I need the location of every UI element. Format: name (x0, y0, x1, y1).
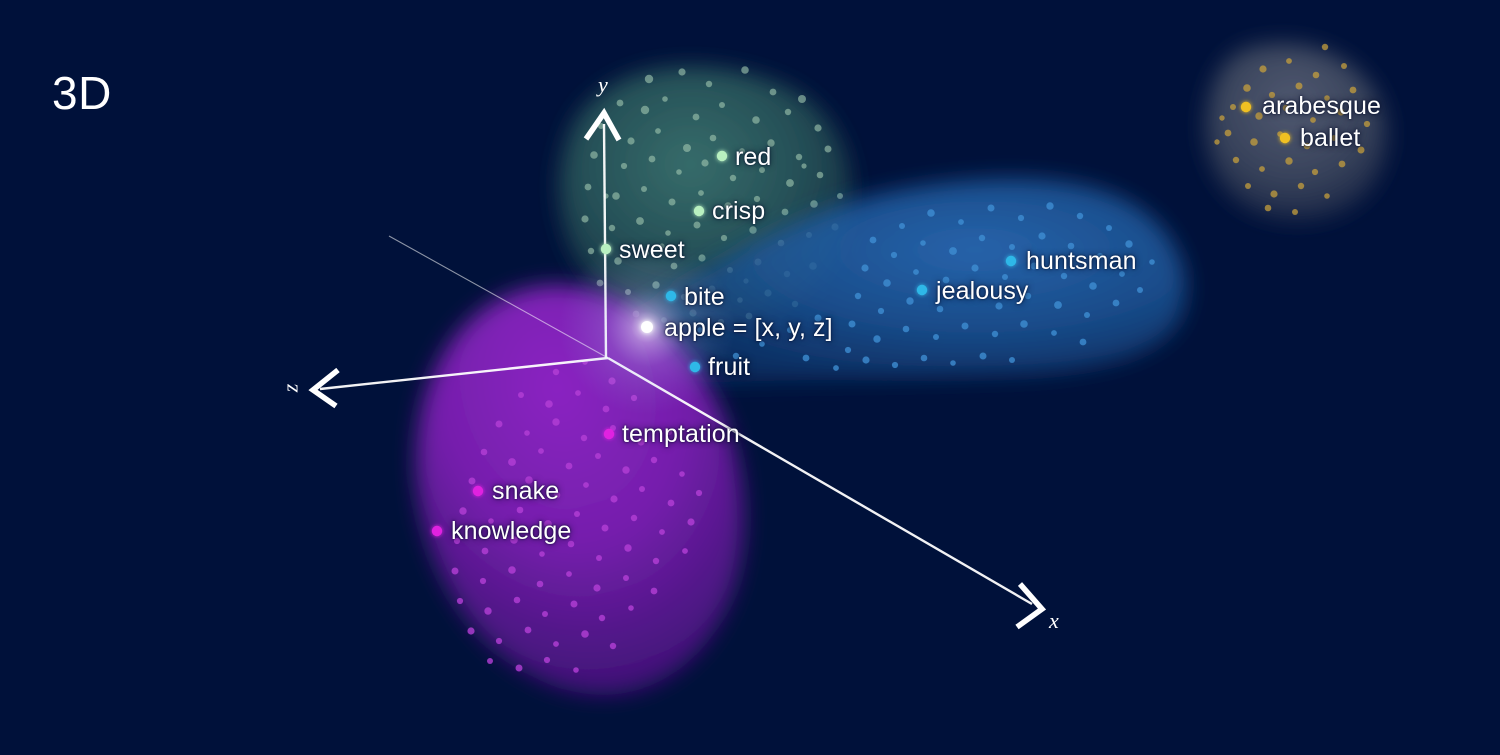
embedding-space-visualization: 3D y z x red crisp sweet huntsman jealou… (0, 0, 1500, 755)
dot-fruit (690, 362, 700, 372)
dot-jealousy (917, 285, 927, 295)
dot-apple-origin (641, 321, 653, 333)
point-label-jealousy: jealousy (936, 279, 1029, 304)
point-label-crisp: crisp (712, 199, 765, 224)
dot-bite (666, 291, 676, 301)
point-label-arabesque: arabesque (1262, 94, 1381, 119)
mode-badge: 3D (52, 70, 112, 116)
point-label-sweet: sweet (619, 238, 685, 263)
dot-sweet (601, 244, 611, 254)
y-axis-label: y (598, 74, 608, 96)
point-label-fruit: fruit (708, 355, 750, 380)
dot-snake (473, 486, 483, 496)
point-label-huntsman: huntsman (1026, 249, 1137, 274)
point-label-temptation: temptation (622, 422, 740, 447)
point-label-ballet: ballet (1300, 126, 1360, 151)
dot-red (717, 151, 727, 161)
point-label-red: red (735, 145, 771, 170)
x-axis-label: x (1049, 610, 1059, 632)
point-label-apple-origin: apple = [x, y, z] (664, 316, 833, 341)
z-axis-label: z (279, 384, 301, 393)
dot-huntsman (1006, 256, 1016, 266)
point-label-snake: snake (492, 479, 559, 504)
dot-crisp (694, 206, 704, 216)
dot-temptation (604, 429, 614, 439)
dot-knowledge (432, 526, 442, 536)
point-label-knowledge: knowledge (451, 519, 571, 544)
dot-ballet (1280, 133, 1290, 143)
dot-arabesque (1241, 102, 1251, 112)
point-label-bite: bite (684, 285, 725, 310)
